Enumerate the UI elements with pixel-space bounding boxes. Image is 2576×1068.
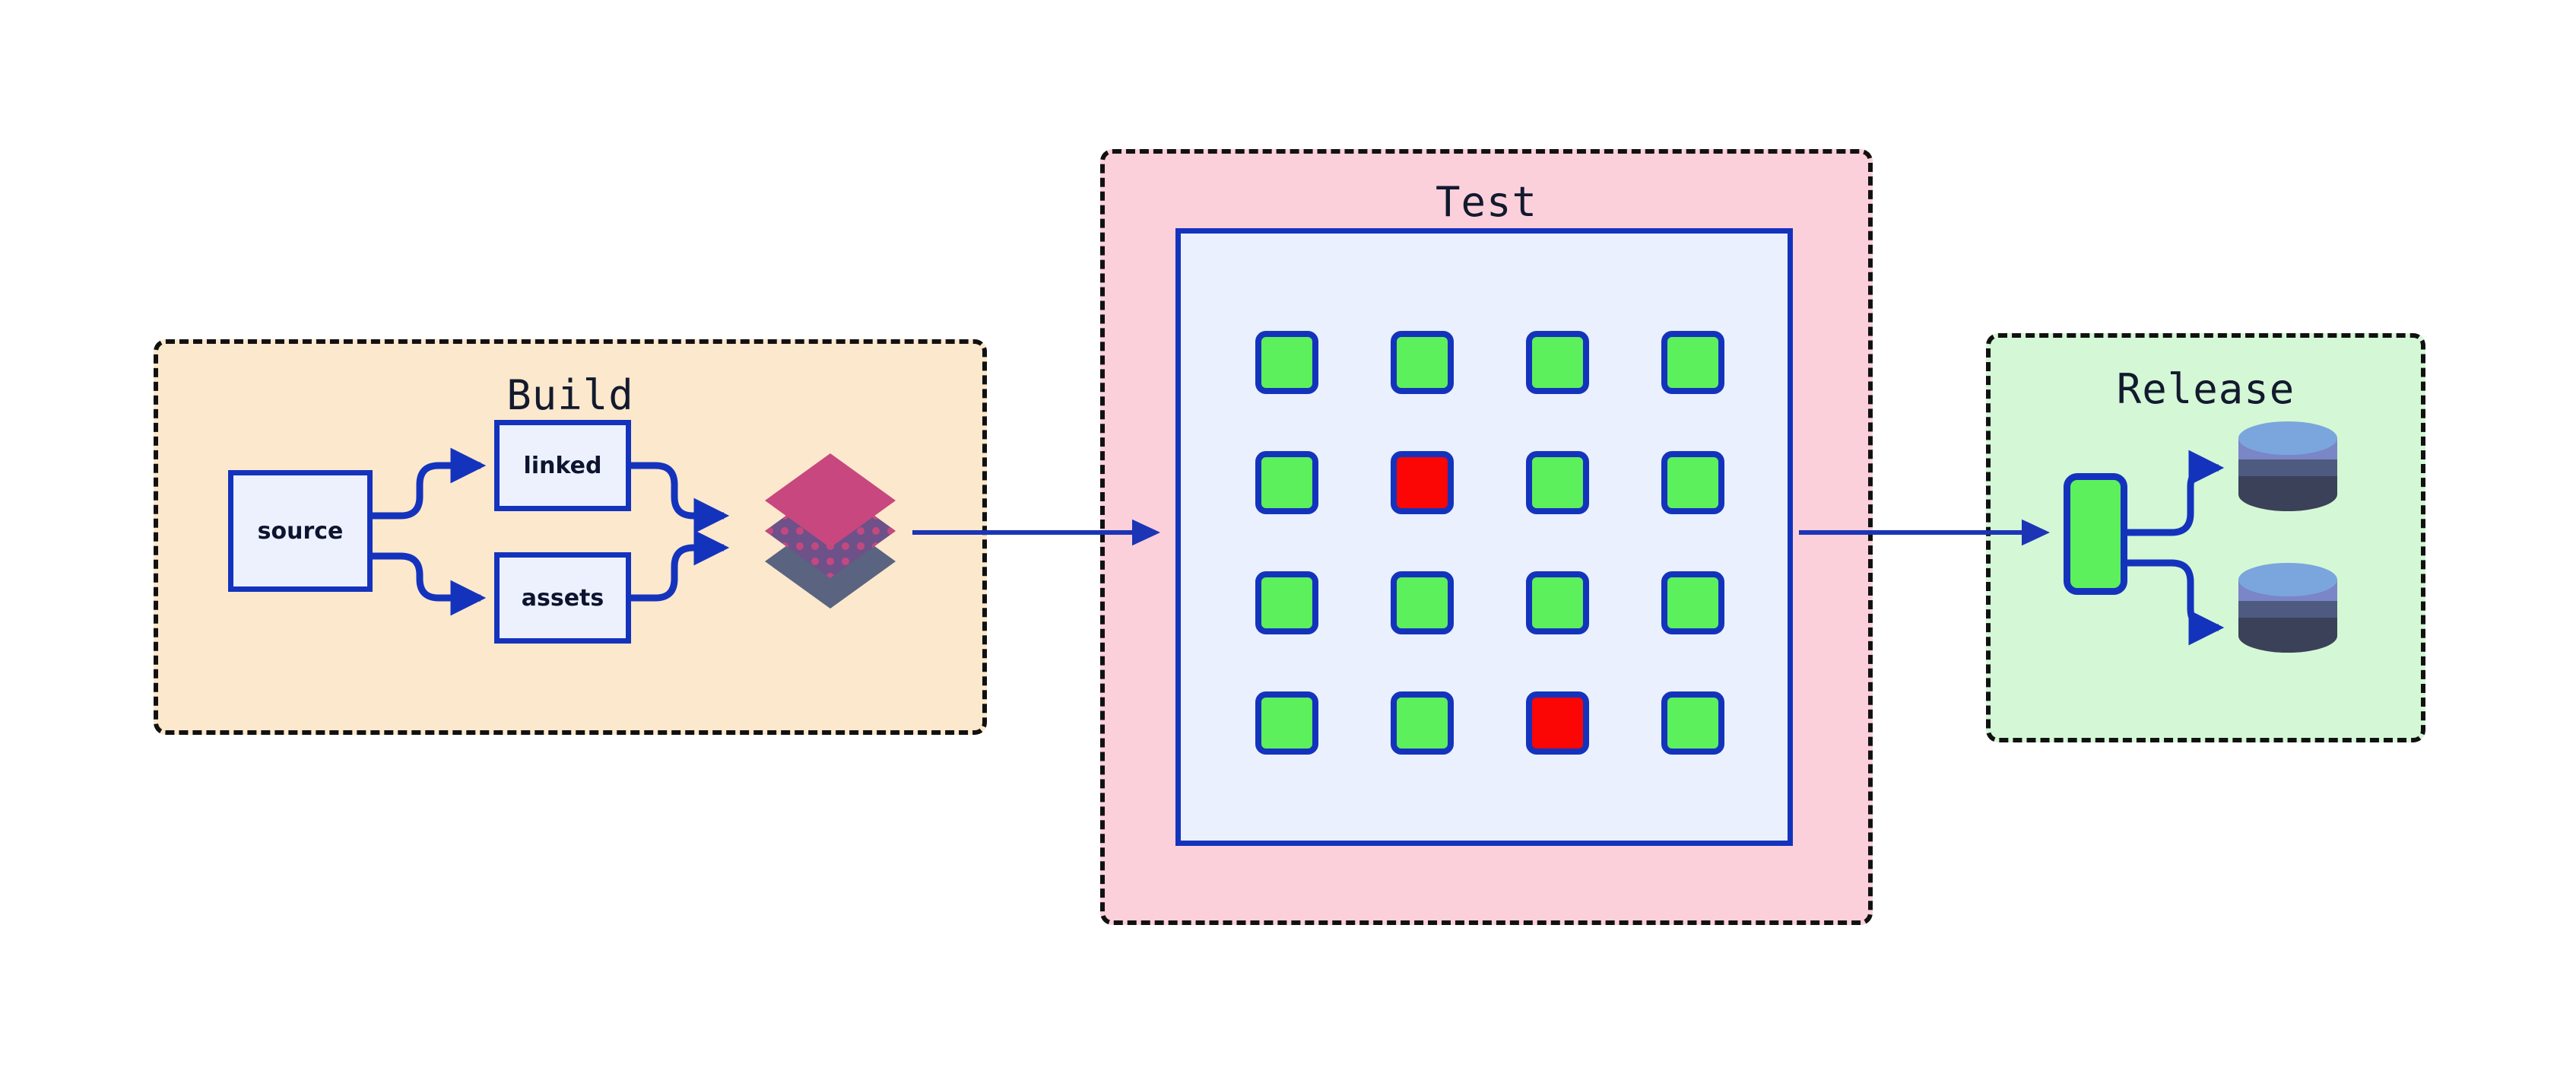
stage-release-title: Release	[1991, 365, 2421, 413]
test-results-panel[interactable]	[1175, 228, 1793, 846]
test-square-pass[interactable]	[1391, 331, 1454, 394]
database-icon[interactable]	[2235, 557, 2340, 656]
build-node-linked[interactable]: linked	[494, 420, 631, 511]
test-square-pass[interactable]	[1391, 691, 1454, 755]
test-grid-cell	[1625, 663, 1760, 783]
test-grid-cell	[1354, 663, 1489, 783]
test-square-pass[interactable]	[1391, 571, 1454, 634]
test-square-pass[interactable]	[1526, 331, 1589, 394]
test-square-pass[interactable]	[1526, 571, 1589, 634]
test-grid-cell	[1489, 542, 1625, 663]
test-grid-cell	[1489, 302, 1625, 422]
test-square-pass[interactable]	[1661, 331, 1724, 394]
build-node-source-label: source	[258, 518, 344, 545]
build-node-source[interactable]: source	[228, 470, 373, 592]
build-node-assets[interactable]: assets	[494, 552, 631, 644]
release-artifact-node[interactable]	[2064, 473, 2127, 595]
test-grid-cell	[1625, 542, 1760, 663]
test-square-pass[interactable]	[1255, 691, 1318, 755]
test-grid-cell	[1489, 663, 1625, 783]
test-square-pass[interactable]	[1661, 451, 1724, 514]
build-node-linked-label: linked	[524, 453, 602, 479]
test-grid-cell	[1219, 302, 1354, 422]
test-square-pass[interactable]	[1526, 451, 1589, 514]
stage-test-title: Test	[1105, 178, 1868, 226]
test-grid-cell	[1219, 542, 1354, 663]
test-square-fail[interactable]	[1391, 451, 1454, 514]
test-grid-cell	[1625, 422, 1760, 542]
test-grid-cell	[1625, 302, 1760, 422]
test-grid-cell	[1489, 422, 1625, 542]
test-square-pass[interactable]	[1661, 691, 1724, 755]
test-grid-cell	[1354, 422, 1489, 542]
test-grid-cell	[1219, 663, 1354, 783]
stage-build-title: Build	[158, 371, 982, 419]
build-node-assets-label: assets	[522, 585, 604, 612]
test-grid-cell	[1219, 422, 1354, 542]
test-grid-cell	[1354, 302, 1489, 422]
test-square-fail[interactable]	[1526, 691, 1589, 755]
layers-icon	[747, 447, 914, 615]
test-grid-cell	[1354, 542, 1489, 663]
test-results-grid	[1219, 302, 1760, 783]
diagram-canvas: Build source linked assets Test	[0, 0, 2576, 1068]
test-square-pass[interactable]	[1255, 571, 1318, 634]
test-square-pass[interactable]	[1661, 571, 1724, 634]
database-icon[interactable]	[2235, 415, 2340, 514]
test-square-pass[interactable]	[1255, 451, 1318, 514]
test-square-pass[interactable]	[1255, 331, 1318, 394]
stage-release[interactable]: Release	[1986, 333, 2425, 742]
